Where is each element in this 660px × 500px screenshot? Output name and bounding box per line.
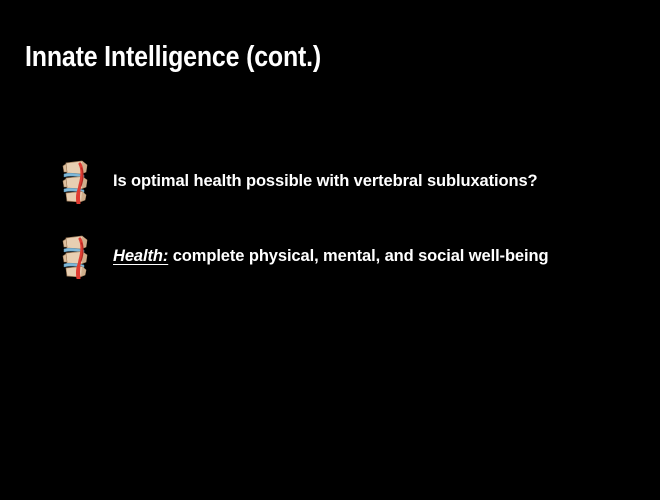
list-item-lead-term: Health: [113,247,168,265]
bullet-list: Is optimal health possible with vertebra… [62,160,642,310]
list-item-body: complete physical, mental, and social we… [168,247,548,265]
vertebrae-spine-icon [62,160,92,204]
list-item-label: Health: complete physical, mental, and s… [113,235,548,266]
list-item: Is optimal health possible with vertebra… [62,160,642,204]
presentation-slide: Innate Intelligence (cont.) [0,0,660,500]
list-item: Health: complete physical, mental, and s… [62,235,642,279]
page-title: Innate Intelligence (cont.) [25,40,321,74]
list-item-label: Is optimal health possible with vertebra… [113,160,538,191]
vertebrae-spine-icon [62,235,92,279]
